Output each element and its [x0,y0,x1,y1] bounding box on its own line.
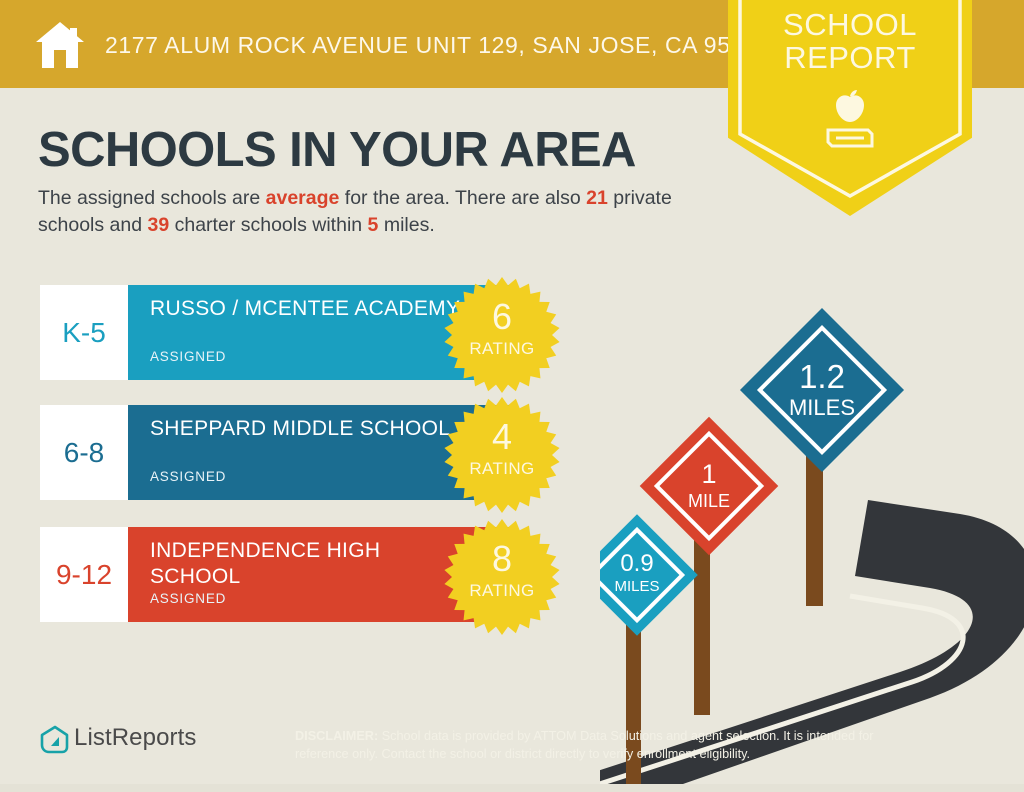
rating-label: RATING [443,581,561,601]
badge-title: SCHOOL REPORT [728,8,972,74]
school-status: ASSIGNED [150,591,226,606]
sign-pole [694,527,710,715]
rating-badge: 6 RATING [443,276,561,394]
sign-unit: MILES [764,397,880,419]
apple-and-book-icon [820,88,880,150]
sign-unit: MILE [660,492,758,510]
badge-title-line2: REPORT [784,40,916,75]
logo-text: ListReports [74,724,196,752]
subtitle-part1: The assigned schools are [38,187,266,209]
property-address: 2177 ALUM ROCK AVENUE UNIT 129, SAN JOSE… [105,32,769,59]
subtitle-highlight-charter-count: 39 [148,214,170,236]
home-icon [34,20,86,70]
subtitle: The assigned schools are average for the… [38,185,728,239]
grade-label: 9-12 [56,559,112,591]
school-name: RUSSO / MCENTEE ACADEMY [150,296,470,322]
subtitle-highlight-radius: 5 [368,214,379,236]
sign-distance: 1 [660,461,758,488]
sign-label: 1.2 MILES [764,360,880,419]
grade-box: 9-12 [40,527,128,622]
school-name: SHEPPARD MIDDLE SCHOOL [150,416,470,442]
school-row[interactable]: 6-8 SHEPPARD MIDDLE SCHOOL ASSIGNED [40,405,510,500]
house-tag-icon [40,725,70,755]
subtitle-part2: for the area. There are also [339,187,586,209]
subtitle-highlight-private-count: 21 [586,187,608,209]
infographic-page: 2177 ALUM ROCK AVENUE UNIT 129, SAN JOSE… [0,0,1024,792]
sign-pole [626,618,641,792]
subtitle-part4: charter schools within [169,214,367,236]
rating-value: 6 [443,299,561,335]
grade-box: 6-8 [40,405,128,500]
rating-label: RATING [443,339,561,359]
disclaimer-label: DISCLAIMER: [295,729,378,743]
school-status: ASSIGNED [150,349,226,364]
rating-label: RATING [443,459,561,479]
rating-value: 8 [443,541,561,577]
sign-label: 0.9 MILES [600,552,680,594]
grade-label: 6-8 [64,437,104,469]
school-name: INDEPENDENCE HIGH SCHOOL [150,538,470,589]
sign-distance: 1.2 [764,360,880,393]
badge-title-line1: SCHOOL [783,7,917,42]
rating-badge: 4 RATING [443,396,561,514]
grade-box: K-5 [40,285,128,380]
school-row[interactable]: 9-12 INDEPENDENCE HIGH SCHOOL ASSIGNED [40,527,510,622]
bottom-strip [0,784,1024,792]
listreports-logo[interactable]: ListReports [40,723,220,759]
school-report-badge: SCHOOL REPORT [728,0,972,216]
sign-distance: 0.9 [600,552,680,576]
page-title: SCHOOLS IN YOUR AREA [38,122,636,178]
road-illustration: 1.2 MILES 1 MILE 0.9 MILES [600,300,1024,792]
rating-value: 4 [443,419,561,455]
disclaimer-text: DISCLAIMER: School data is provided by A… [295,728,895,763]
school-row[interactable]: K-5 RUSSO / MCENTEE ACADEMY ASSIGNED [40,285,510,380]
subtitle-part5: miles. [378,214,434,236]
grade-label: K-5 [62,317,106,349]
sign-label: 1 MILE [660,461,758,510]
sign-unit: MILES [600,579,680,594]
rating-badge: 8 RATING [443,518,561,636]
subtitle-highlight-average: average [266,187,340,209]
school-status: ASSIGNED [150,469,226,484]
disclaimer-body: School data is provided by ATTOM Data So… [295,729,874,761]
